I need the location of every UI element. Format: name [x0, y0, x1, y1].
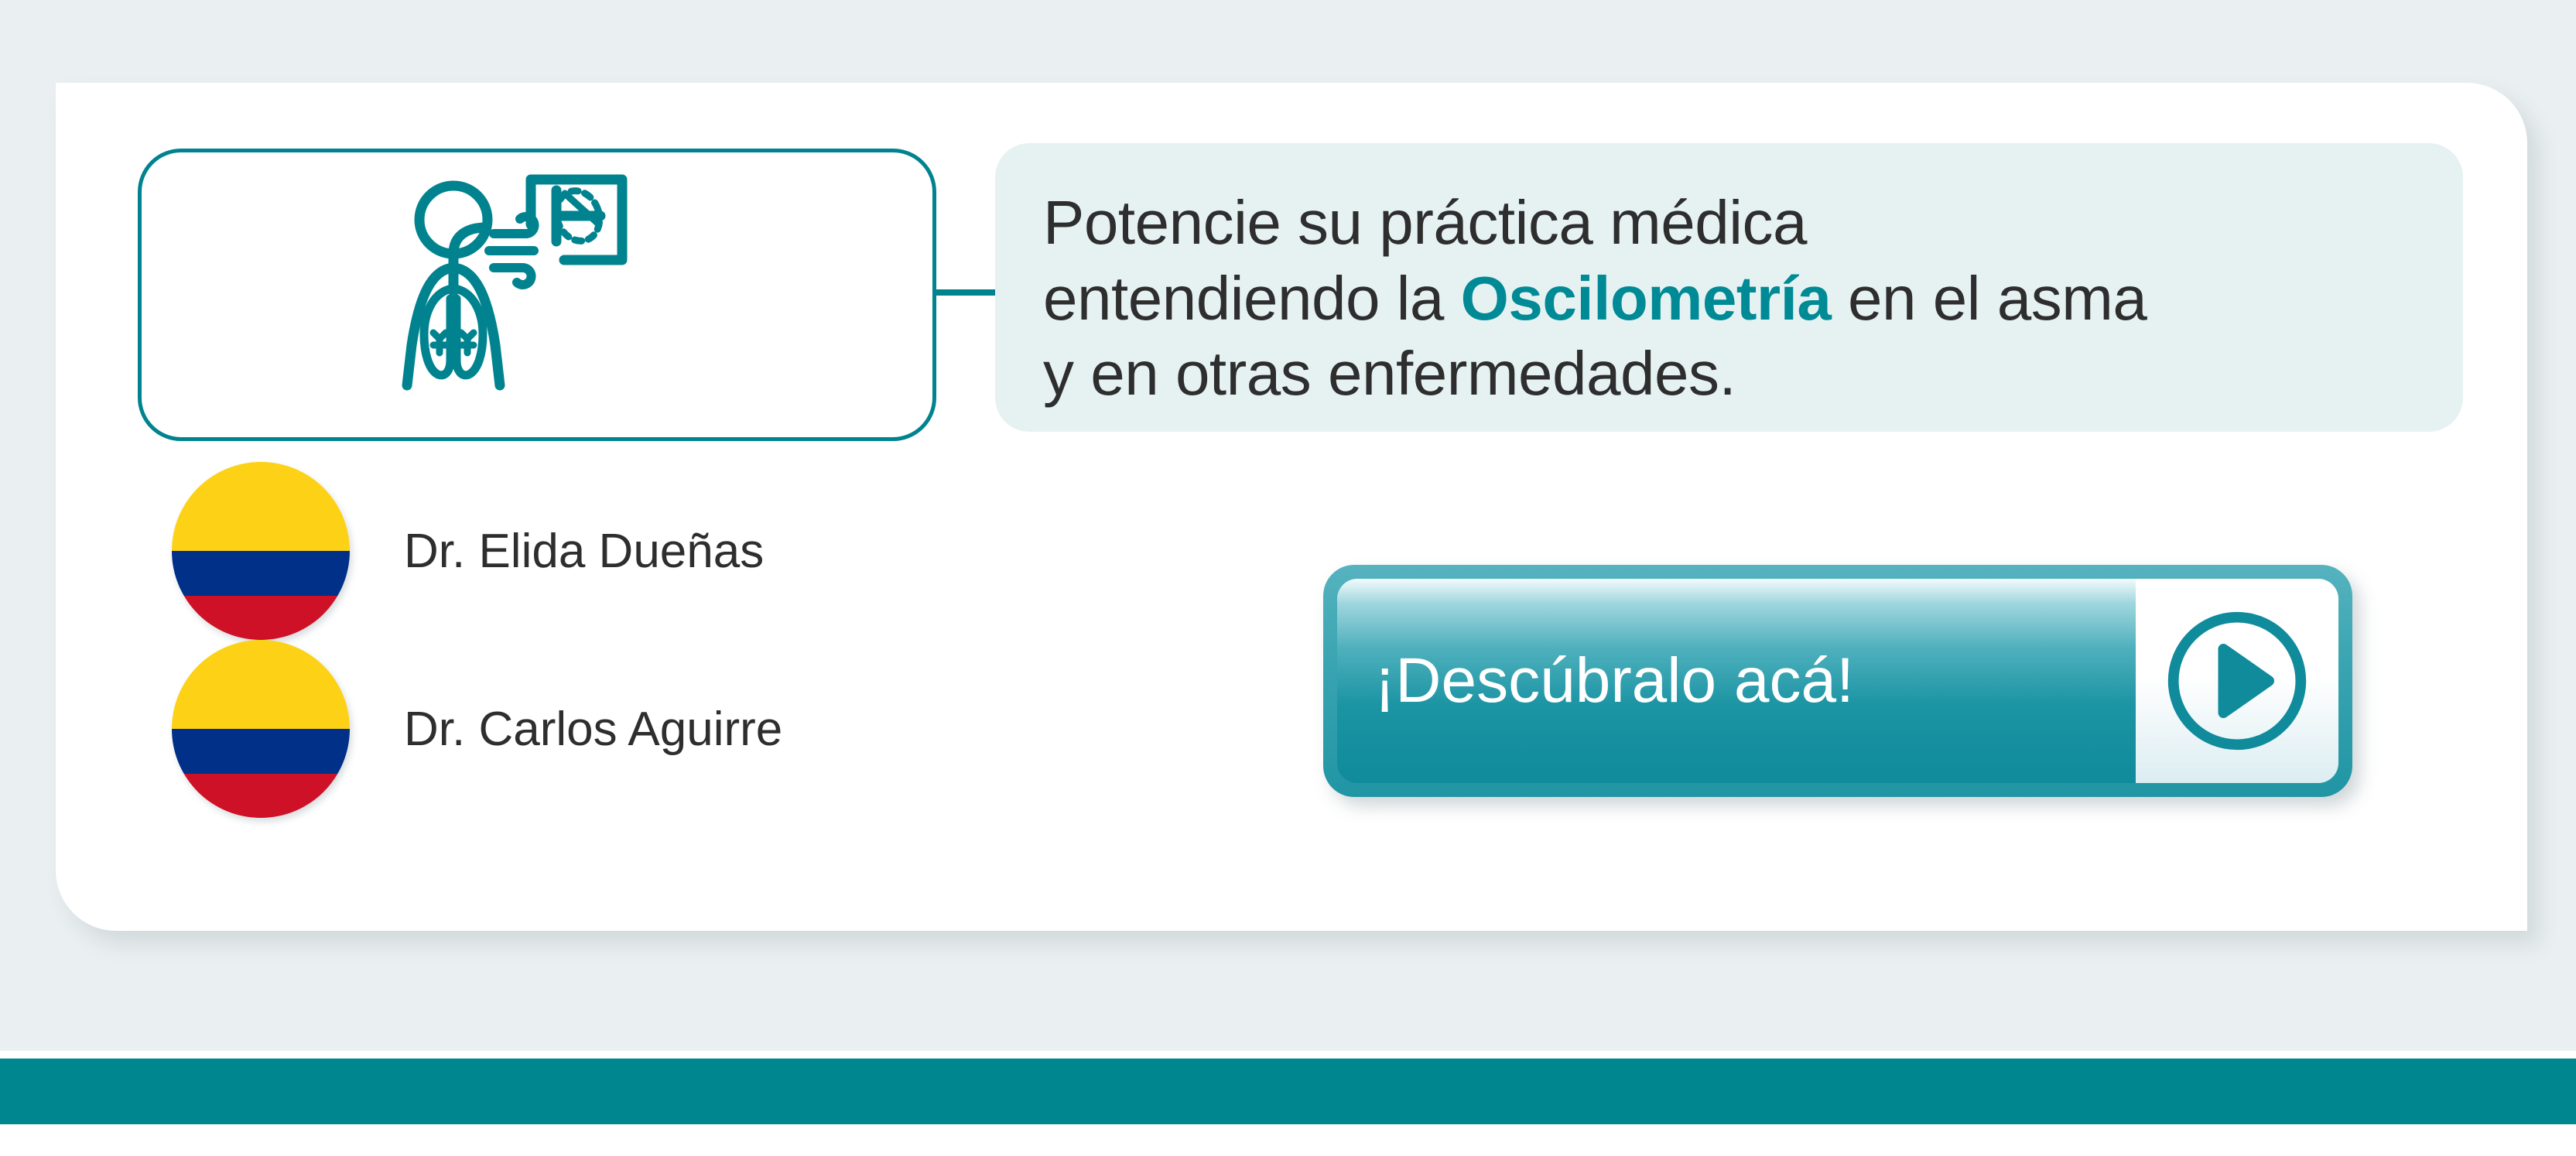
person-head-icon	[419, 186, 487, 254]
play-circle-icon[interactable]	[2161, 605, 2313, 757]
headline-panel: Potencie su práctica médicaentendiendo l…	[995, 143, 2463, 432]
oscillometry-loop-chart-icon	[549, 185, 606, 247]
speakers-list: Dr. Elida Dueñas Dr. Carlos Aguirre	[172, 462, 1023, 818]
cta-button-label: ¡Descúbralo acá!	[1374, 645, 1854, 717]
flag-band-yellow	[172, 640, 350, 729]
bottom-accent-bar	[0, 1059, 2576, 1124]
icon-frame-box	[138, 149, 936, 441]
headline-line-3: y en otras enfermedades.	[1043, 339, 1736, 408]
lungs-icon	[424, 289, 483, 375]
speaker-row: Dr. Elida Dueñas	[172, 462, 1023, 640]
connector-line	[936, 289, 1001, 296]
headline-line-2-after: en el asma	[1831, 264, 2147, 333]
content-card: Potencie su práctica médicaentendiendo l…	[56, 83, 2527, 931]
speaker-name: Dr. Elida Dueñas	[404, 524, 764, 579]
cta-surface: ¡Descúbralo acá!	[1337, 579, 2338, 783]
headline-line-2-before: entendiendo la	[1043, 264, 1461, 333]
cta-play-panel[interactable]	[2136, 579, 2338, 783]
headline-accent-term: Oscilometría	[1461, 264, 1832, 333]
speaker-row: Dr. Carlos Aguirre	[172, 640, 1023, 818]
flag-band-red	[172, 596, 350, 641]
speaker-name: Dr. Carlos Aguirre	[404, 702, 782, 757]
flag-band-yellow	[172, 462, 350, 551]
colombia-flag-circle	[172, 462, 350, 640]
discover-cta-button[interactable]: ¡Descúbralo acá!	[1323, 565, 2352, 797]
headline-line-1: Potencie su práctica médica	[1043, 188, 1807, 257]
flag-band-blue	[172, 729, 350, 774]
flag-band-blue	[172, 551, 350, 596]
patient-exhaling-to-oscillometry-monitor-icon	[390, 167, 684, 422]
cta-label-area: ¡Descúbralo acá!	[1337, 579, 2136, 783]
colombia-flag-circle	[172, 640, 350, 818]
page-title: Potencie su práctica médicaentendiendo l…	[1043, 185, 2417, 412]
flag-band-red	[172, 774, 350, 819]
